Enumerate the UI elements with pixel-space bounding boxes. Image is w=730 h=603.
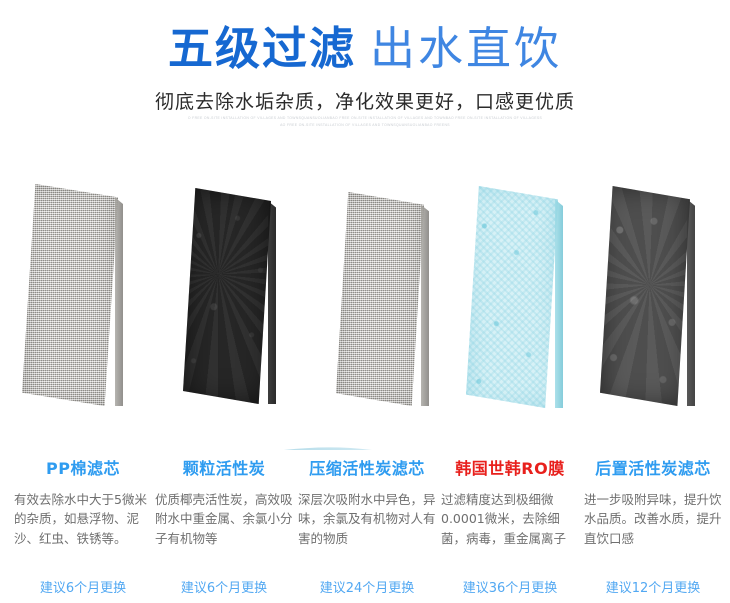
stage-column-5: 后置活性炭滤芯 进一步吸附异味，提升饮水品质。改善水质，提升直饮口感 建议12个… xyxy=(584,455,722,548)
page-subtitle: 彻底去除水垢杂质，净化效果更好，口感更优质 xyxy=(0,87,730,114)
stage-replacement-note: 建议36个月更换 xyxy=(441,577,579,596)
header: 五级过滤出水直饮 彻底去除水垢杂质，净化效果更好，口感更优质 O FREE ON… xyxy=(0,0,730,150)
filter-panels-illustration xyxy=(0,150,730,450)
filter-panel-4 xyxy=(466,186,558,408)
filter-panel-3 xyxy=(336,192,424,406)
panel-edge xyxy=(555,186,563,408)
stage-title: PP棉滤芯 xyxy=(14,455,152,479)
water-body xyxy=(0,447,730,450)
filter-panel-2 xyxy=(183,188,271,404)
stage-description: 过滤精度达到极细微0.0001微米，去除细菌，病毒，重金属离子 xyxy=(441,490,579,548)
headline-secondary: 出水直饮 xyxy=(370,22,562,75)
stage-labels: PP棉滤芯 有效去除水中大于5微米的杂质，如悬浮物、泥沙、红虫、铁锈等。 建议6… xyxy=(0,455,730,603)
panel-edge xyxy=(268,188,276,404)
stage-description: 深层次吸附水中异色，异味，余氯及有机物对人有害的物质 xyxy=(298,490,436,548)
panel-edge xyxy=(115,184,123,406)
stage-description: 优质椰壳活性炭，高效吸附水中重金属、余氯小分子有机物等 xyxy=(155,490,293,548)
stage-column-1: PP棉滤芯 有效去除水中大于5微米的杂质，如悬浮物、泥沙、红虫、铁锈等。 建议6… xyxy=(14,455,152,548)
panel-face-post-carbon xyxy=(600,186,690,406)
stage-column-2: 颗粒活性炭 优质椰壳活性炭，高效吸附水中重金属、余氯小分子有机物等 建议6个月更… xyxy=(155,455,293,548)
panel-edge xyxy=(421,192,429,406)
page-title: 五级过滤出水直饮 xyxy=(0,26,730,71)
micro-text-line-2: AO FREE ON-SITE INSTALLATION OF VILLAGES… xyxy=(0,123,730,127)
filtration-infographic: 五级过滤出水直饮 彻底去除水垢杂质，净化效果更好，口感更优质 O FREE ON… xyxy=(0,0,730,603)
stage-replacement-note: 建议12个月更换 xyxy=(584,577,722,596)
panel-face-ro-membrane xyxy=(466,186,558,408)
micro-text-line-1: O FREE ON-SITE INSTALLATION OF VILLAGES … xyxy=(0,116,730,120)
headline-primary: 五级过滤 xyxy=(168,22,356,75)
stage-replacement-note: 建议6个月更换 xyxy=(155,577,293,596)
panel-face-carbon xyxy=(183,188,271,404)
stage-replacement-note: 建议6个月更换 xyxy=(14,577,152,596)
stage-title: 韩国世韩RO膜 xyxy=(441,455,579,479)
stage-column-4: 韩国世韩RO膜 过滤精度达到极细微0.0001微米，去除细菌，病毒，重金属离子 … xyxy=(441,455,579,548)
stage-title: 颗粒活性炭 xyxy=(155,455,293,479)
stage-column-3: 压缩活性炭滤芯 深层次吸附水中异色，异味，余氯及有机物对人有害的物质 建议24个… xyxy=(298,455,436,548)
stage-description: 有效去除水中大于5微米的杂质，如悬浮物、泥沙、红虫、铁锈等。 xyxy=(14,490,152,548)
stage-title: 后置活性炭滤芯 xyxy=(584,455,722,479)
filter-panel-1 xyxy=(22,184,118,406)
filter-panel-5 xyxy=(600,186,690,406)
panel-face-mesh xyxy=(22,184,118,406)
panel-face-mesh xyxy=(336,192,424,406)
stage-replacement-note: 建议24个月更换 xyxy=(298,577,436,596)
stage-title: 压缩活性炭滤芯 xyxy=(298,455,436,479)
stage-description: 进一步吸附异味，提升饮水品质。改善水质，提升直饮口感 xyxy=(584,490,722,548)
panel-edge xyxy=(687,186,695,406)
